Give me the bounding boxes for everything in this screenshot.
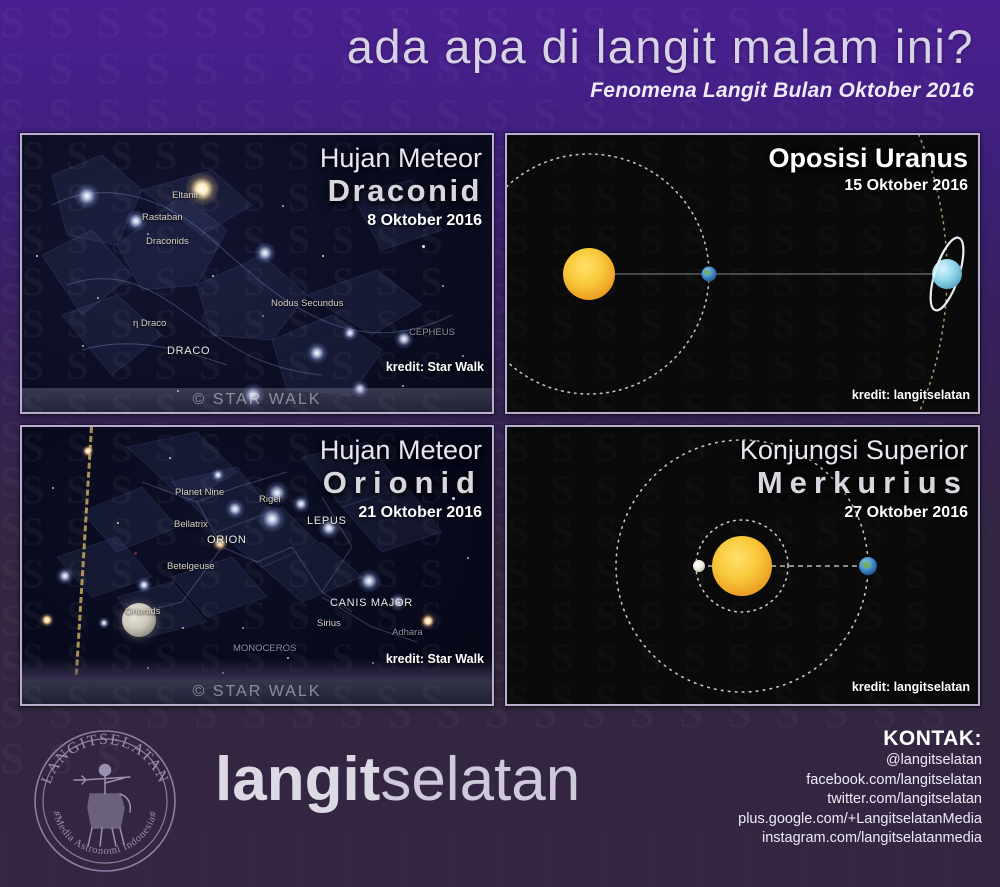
- nodus-secundus-star: [306, 342, 328, 364]
- sky-label: MONOCEROS: [233, 643, 296, 654]
- panel-name: Orionid: [320, 465, 482, 501]
- sky-label: Rigel: [259, 494, 281, 505]
- sky-label: Adhara: [392, 627, 423, 638]
- starwalk-watermark: © STAR WALK: [22, 388, 492, 412]
- contact-instagram[interactable]: instagram.com/langitselatanmedia: [738, 829, 982, 849]
- sky-label: CANIS MAJOR: [330, 597, 413, 609]
- sky-label: ORION: [207, 534, 247, 546]
- star-glow: [40, 613, 54, 627]
- sky-label: DRACO: [167, 345, 210, 357]
- starwalk-watermark: © STAR WALK: [22, 680, 492, 704]
- star-glow: [56, 567, 74, 585]
- langitselatan-logo: LANGITSELATAN #Media Astronomi Indonesia…: [32, 728, 178, 874]
- sky-label: Planet Nine: [175, 487, 224, 498]
- star-glow: [292, 495, 310, 513]
- draconid-title-block: Hujan Meteor Draconid 8 Oktober 2016: [320, 143, 482, 231]
- page-subtitle: Fenomena Langit Bulan Oktober 2016: [0, 78, 974, 104]
- panel-name: Merkurius: [740, 465, 968, 501]
- panel-credit: kredit: Star Walk: [386, 652, 484, 666]
- sky-label: Eltanin: [172, 190, 201, 201]
- sagittarius-centaur-icon: [74, 765, 130, 847]
- star-glow: [82, 445, 94, 457]
- uranus-title-block: Oposisi Uranus 15 Oktober 2016: [768, 143, 968, 196]
- star-glow: [254, 242, 276, 264]
- orionid-title-block: Hujan Meteor Orionid 21 Oktober 2016: [320, 435, 482, 523]
- star-glow: [342, 325, 358, 341]
- mercury-body: [693, 560, 705, 572]
- panel-kicker: Hujan Meteor: [320, 143, 482, 173]
- contact-google-plus[interactable]: plus.google.com/+LangitselatanMedia: [738, 810, 982, 830]
- panel-credit: kredit: Star Walk: [386, 360, 484, 374]
- page-title: ada apa di langit malam ini?: [0, 18, 974, 76]
- contact-twitter[interactable]: twitter.com/langitselatan: [738, 790, 982, 810]
- sky-label: η Draco: [133, 318, 166, 329]
- panel-kicker: Konjungsi Superior: [740, 435, 968, 465]
- panel-date: 21 Oktober 2016: [320, 502, 482, 523]
- panel-name: Oposisi Uranus: [768, 143, 968, 174]
- panel-oposisi-uranus[interactable]: SSSSSSSSSSSSSSSSSSSSSSSSSSSSSSSSSSSSSSSS…: [505, 133, 980, 414]
- sky-label: CEPHEUS: [409, 327, 455, 338]
- brand-light: selatan: [380, 745, 580, 814]
- panel-credit: kredit: langitselatan: [852, 388, 970, 402]
- sky-label: Betelgeuse: [167, 561, 215, 572]
- star-glow: [136, 577, 152, 593]
- panel-name: Draconid: [320, 173, 482, 209]
- planet-nine-marker: [211, 468, 225, 482]
- contact-facebook[interactable]: facebook.com/langitselatan: [738, 771, 982, 791]
- panel-orionid[interactable]: SSSSSSSSSSSSSSSSSSSSSSSSSSSSSSSSSSSSSSSS…: [20, 425, 494, 706]
- sirius-star: [357, 569, 381, 593]
- sky-label: Nodus Secundus: [271, 298, 343, 309]
- contact-heading: KONTAK:: [738, 726, 982, 751]
- panel-credit: kredit: langitselatan: [852, 680, 970, 694]
- sky-label: Draconids: [146, 236, 189, 247]
- star-glow: [258, 505, 286, 533]
- sky-label: Rastaban: [142, 212, 183, 223]
- panel-date: 27 Oktober 2016: [740, 502, 968, 523]
- brand-bold: langit: [215, 745, 380, 814]
- star-glow: [98, 617, 110, 629]
- contact-block: KONTAK: @langitselatan facebook.com/lang…: [738, 726, 982, 849]
- panel-kicker: Hujan Meteor: [320, 435, 482, 465]
- panel-date: 15 Oktober 2016: [768, 175, 968, 196]
- bright-star-glow: [74, 183, 100, 209]
- sun-body: [712, 536, 772, 596]
- contact-instagram-handle[interactable]: @langitselatan: [738, 751, 982, 771]
- bellatrix-star: [225, 499, 245, 519]
- merkurius-title-block: Konjungsi Superior Merkurius 27 Oktober …: [740, 435, 968, 523]
- brand-wordmark: langitselatan: [215, 745, 580, 815]
- panel-date: 8 Oktober 2016: [320, 210, 482, 231]
- poster-root: SSSSSSSSSSSSSSSSSSSSSSSSSSSSSSSSSSSSSSSS…: [0, 0, 1000, 887]
- sun-body: [563, 248, 615, 300]
- sky-label: Orionids: [125, 606, 160, 617]
- panel-draconid[interactable]: SSSSSSSSSSSSSSSSSSSSSSSSSSSSSSSSSSSSSSSS…: [20, 133, 494, 414]
- panel-konjungsi-merkurius[interactable]: SSSSSSSSSSSSSSSSSSSSSSSSSSSSSSSSSSSSSSSS…: [505, 425, 980, 706]
- sky-label: Sirius: [317, 618, 341, 629]
- sky-label: Bellatrix: [174, 519, 208, 530]
- poster-header: ada apa di langit malam ini? Fenomena La…: [0, 18, 974, 104]
